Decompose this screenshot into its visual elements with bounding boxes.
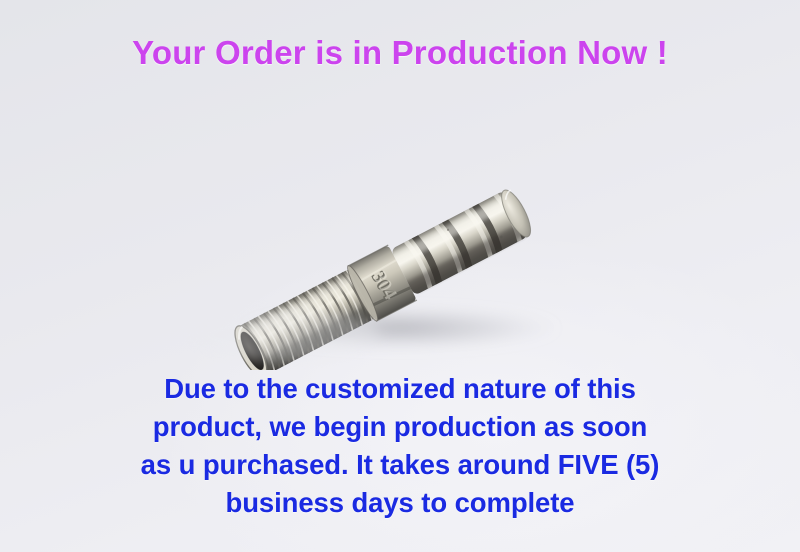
promo-banner: Your Order is in Production Now ! bbox=[0, 0, 800, 552]
notice-line-1: Due to the customized nature of this bbox=[0, 370, 800, 408]
headline-text: Your Order is in Production Now ! bbox=[0, 34, 800, 72]
notice-line-3: as u purchased. It takes around FIVE (5) bbox=[0, 446, 800, 484]
notice-line-4: business days to complete bbox=[0, 484, 800, 522]
hose-barb-fitting-illustration: 304 304 bbox=[150, 120, 650, 370]
production-notice: Due to the customized nature of this pro… bbox=[0, 370, 800, 522]
notice-line-2: product, we begin production as soon bbox=[0, 408, 800, 446]
product-image: 304 304 bbox=[150, 120, 650, 370]
barbed-section bbox=[387, 186, 536, 297]
